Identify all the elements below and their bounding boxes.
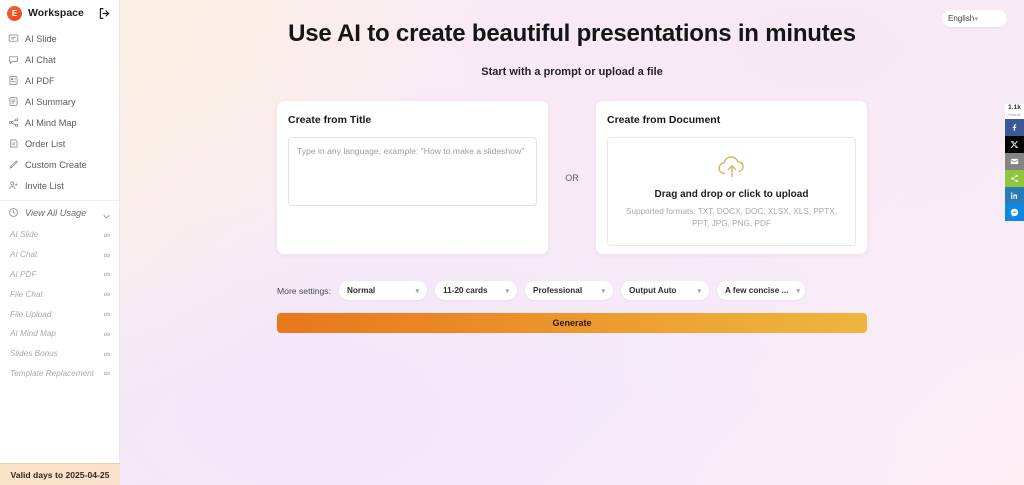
linkedin-icon: [1010, 191, 1019, 200]
create-from-document-heading: Create from Document: [607, 114, 856, 126]
usage-row: AI Mind Map ∞: [0, 324, 119, 344]
chevron-down-icon: ▾: [497, 287, 509, 295]
generic-share-button[interactable]: [1005, 170, 1024, 187]
summary-icon: [8, 96, 19, 107]
facebook-icon: [1010, 123, 1019, 132]
chat-icon: [8, 54, 19, 65]
usage-list: AI Slide ∞ AI Chat ∞ AI PDF ∞ File Chat …: [0, 224, 119, 383]
dropzone-supported-formats: Supported formats: TXT, DOCX, DOC, XLSX,…: [619, 206, 844, 230]
usage-row: AI Slide ∞: [0, 225, 119, 245]
envelope-icon: [1010, 157, 1019, 166]
view-all-usage-label: View All Usage: [25, 208, 96, 218]
sidebar-item-ai-chat[interactable]: AI Chat: [0, 49, 119, 70]
create-from-title-heading: Create from Title: [288, 114, 537, 126]
sidebar-item-ai-slide[interactable]: AI Slide: [0, 28, 119, 49]
usage-value: ∞: [104, 269, 110, 279]
sidebar-nav: AI Slide AI Chat AI PDF: [0, 26, 119, 196]
pen-icon: [8, 159, 19, 170]
usage-row: File Chat ∞: [0, 284, 119, 304]
create-from-document-card: Create from Document Drag and drop or cl…: [596, 101, 867, 254]
chevron-down-icon: ▾: [788, 287, 800, 295]
usage-row: Template Replacement ∞: [0, 364, 119, 384]
chevron-down-icon: ▾: [407, 287, 419, 295]
x-icon: [1010, 140, 1019, 149]
usage-name: File Chat: [10, 290, 104, 299]
sidebar-item-order-list[interactable]: Order List: [0, 133, 119, 154]
chevron-down-icon: ▾: [593, 287, 605, 295]
sidebar-item-label: AI Mind Map: [25, 118, 77, 128]
slide-icon: [8, 33, 19, 44]
dropzone-main-text: Drag and drop or click to upload: [655, 189, 809, 200]
sidebar-item-ai-mind-map[interactable]: AI Mind Map: [0, 112, 119, 133]
share-count-value: 1.1k: [1005, 105, 1024, 112]
usage-name: AI PDF: [10, 270, 104, 279]
usage-name: File Upload: [10, 310, 104, 319]
usage-value: ∞: [104, 309, 110, 319]
more-settings-label: More settings:: [277, 286, 331, 296]
email-share-button[interactable]: [1005, 153, 1024, 170]
sidebar-item-label: Invite List: [25, 181, 64, 191]
sidebar-item-custom-create[interactable]: Custom Create: [0, 154, 119, 175]
or-separator: OR: [548, 101, 596, 254]
share-nodes-icon: [1010, 174, 1019, 183]
messenger-share-button[interactable]: [1005, 204, 1024, 221]
user-add-icon: [8, 180, 19, 191]
valid-days-badge: Valid days to 2025-04-25: [0, 463, 120, 485]
x-share-button[interactable]: [1005, 136, 1024, 153]
mindmap-icon: [8, 117, 19, 128]
share-count: 1.1k Shares: [1005, 104, 1024, 119]
verbosity-select-value: A few concise ...: [725, 286, 788, 295]
usage-row: AI PDF ∞: [0, 265, 119, 285]
sidebar-item-ai-pdf[interactable]: AI PDF: [0, 70, 119, 91]
cards-select-value: 11-20 cards: [443, 286, 488, 295]
chevron-down-icon: ▾: [689, 287, 701, 295]
cloud-upload-icon: [716, 154, 748, 180]
linkedin-share-button[interactable]: [1005, 187, 1024, 204]
sidebar-item-label: Custom Create: [25, 160, 87, 170]
title-input[interactable]: [288, 137, 537, 206]
sidebar-item-ai-summary[interactable]: AI Summary: [0, 91, 119, 112]
sidebar-item-label: AI PDF: [25, 76, 55, 86]
avatar: E: [7, 6, 22, 21]
usage-name: AI Chat: [10, 250, 104, 259]
usage-value: ∞: [104, 289, 110, 299]
usage-row: AI Chat ∞: [0, 245, 119, 265]
sidebar-item-label: AI Slide: [25, 34, 57, 44]
usage-value: ∞: [104, 250, 110, 260]
sidebar: E Workspace AI Slide AI Chat: [0, 0, 120, 485]
usage-name: Template Replacement: [10, 369, 104, 378]
clock-icon: [8, 207, 19, 218]
messenger-icon: [1010, 208, 1019, 217]
main-content: English ▾ Use AI to create beautiful pre…: [120, 0, 1024, 485]
create-from-title-card: Create from Title: [277, 101, 548, 254]
sidebar-item-label: AI Chat: [25, 55, 56, 65]
page-subtitle: Start with a prompt or upload a file: [120, 66, 1024, 78]
file-upload-dropzone[interactable]: Drag and drop or click to upload Support…: [607, 137, 856, 246]
tone-select-value: Professional: [533, 286, 582, 295]
pdf-icon: [8, 75, 19, 86]
sidebar-item-label: Order List: [25, 139, 65, 149]
usage-value: ∞: [104, 368, 110, 378]
verbosity-select[interactable]: A few concise ... ▾: [717, 281, 805, 300]
output-select-value: Output Auto: [629, 286, 676, 295]
cards-select[interactable]: 11-20 cards ▾: [435, 281, 517, 300]
more-settings-row: More settings: Normal ▾ 11-20 cards ▾ Pr…: [277, 281, 877, 300]
usage-row: Slides Bonus ∞: [0, 344, 119, 364]
usage-name: Slides Bonus: [10, 349, 104, 358]
chevron-down-icon: [102, 208, 111, 217]
length-select[interactable]: Normal ▾: [339, 281, 427, 300]
length-select-value: Normal: [347, 286, 375, 295]
or-label: OR: [565, 173, 579, 183]
facebook-share-button[interactable]: [1005, 119, 1024, 136]
usage-value: ∞: [104, 329, 110, 339]
usage-name: AI Slide: [10, 230, 104, 239]
sidebar-item-label: AI Summary: [25, 97, 76, 107]
usage-value: ∞: [104, 349, 110, 359]
workspace-header: E Workspace: [0, 0, 119, 26]
workspace-title: Workspace: [28, 7, 92, 19]
share-count-label: Shares: [1005, 113, 1024, 117]
order-list-icon: [8, 138, 19, 149]
tone-select[interactable]: Professional ▾: [525, 281, 613, 300]
page-title: Use AI to create beautiful presentations…: [120, 20, 1024, 48]
logout-icon[interactable]: [98, 7, 111, 20]
sidebar-item-invite-list[interactable]: Invite List: [0, 175, 119, 196]
generate-button[interactable]: Generate: [277, 313, 867, 333]
usage-value: ∞: [104, 230, 110, 240]
usage-name: AI Mind Map: [10, 329, 104, 338]
share-rail: 1.1k Shares: [1005, 104, 1024, 221]
view-all-usage-toggle[interactable]: View All Usage: [0, 200, 119, 224]
create-options: Create from Title OR Create from Documen…: [277, 101, 867, 254]
usage-row: File Upload ∞: [0, 304, 119, 324]
output-select[interactable]: Output Auto ▾: [621, 281, 709, 300]
